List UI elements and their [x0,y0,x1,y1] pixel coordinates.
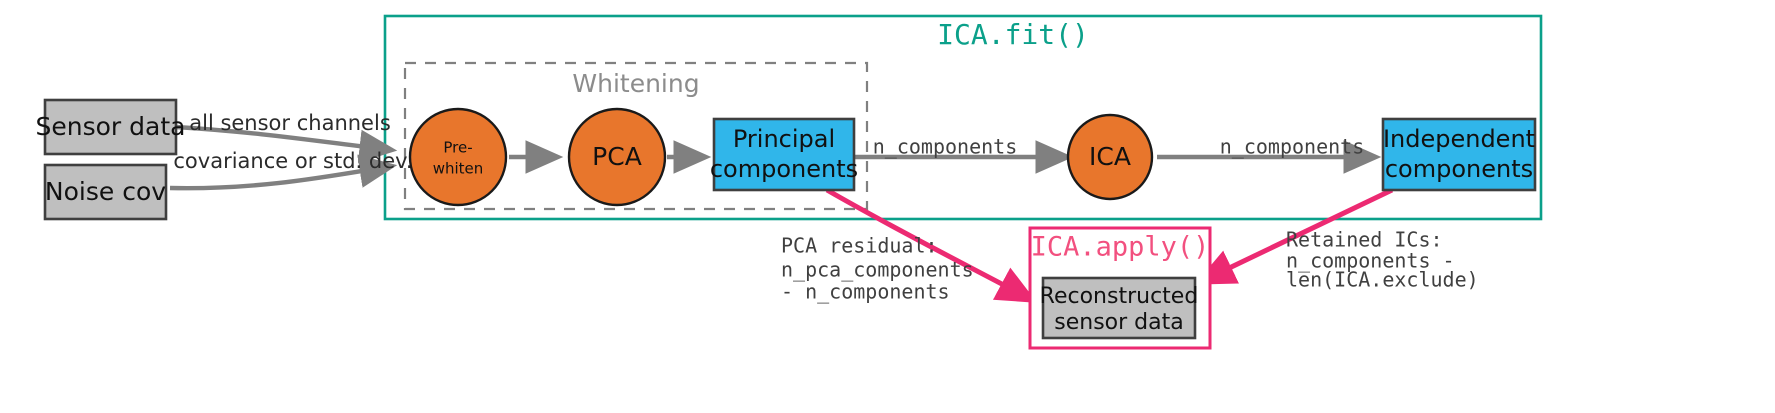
node-noise-cov[interactable]: Noise cov [45,165,166,219]
annotation-pca-residual-line3: - n_components [781,280,950,304]
annotation-pca-residual-line1: PCA residual: [781,234,938,258]
ica-apply-group-label: ICA.apply() [1031,232,1210,263]
annotation-retained-ics-line3: len(ICA.exclude) [1286,268,1479,292]
node-reconstructed-sensor-data-label-line1: Reconstructed [1040,284,1199,309]
node-reconstructed-sensor-data-label-line2: sensor data [1054,310,1183,335]
edge-label-n-components-pca-to-ica: n_components [873,135,1018,159]
node-pre-whiten[interactable]: Pre- whiten [410,109,506,205]
node-principal-components[interactable]: Principal components [710,119,858,190]
node-principal-components-label-line2: components [710,155,858,183]
annotation-pca-residual-line2: n_pca_components [781,258,974,282]
node-independent-components-label-line1: Independent [1383,125,1535,153]
node-pre-whiten-label-line1: Pre- [443,139,472,157]
node-independent-components-label-line2: components [1385,155,1533,183]
node-sensor-data-label: Sensor data [36,112,186,141]
edge-label-n-components-ica-to-ic: n_components [1220,135,1365,159]
node-pca[interactable]: PCA [569,109,665,205]
node-noise-cov-label: Noise cov [45,177,166,206]
node-independent-components[interactable]: Independent components [1383,119,1535,190]
edge-label-all-sensor-channels: all sensor channels [189,111,391,135]
node-ica[interactable]: ICA [1068,115,1152,199]
edge-label-covariance-or-std-dev: covariance or std. dev. [173,149,412,173]
node-reconstructed-sensor-data[interactable]: Reconstructed sensor data [1040,278,1199,338]
node-pca-label: PCA [592,142,642,171]
ica-fit-group-label: ICA.fit() [937,18,1089,51]
canvas-background [0,0,1775,413]
node-pre-whiten-label-line2: whiten [433,160,484,178]
whitening-group-label: Whitening [572,69,699,98]
node-sensor-data[interactable]: Sensor data [36,100,186,154]
node-ica-label: ICA [1089,142,1131,171]
ica-pipeline-diagram: ICA.fit() Whitening all sensor channels … [0,0,1775,413]
node-principal-components-label-line1: Principal [733,125,835,153]
